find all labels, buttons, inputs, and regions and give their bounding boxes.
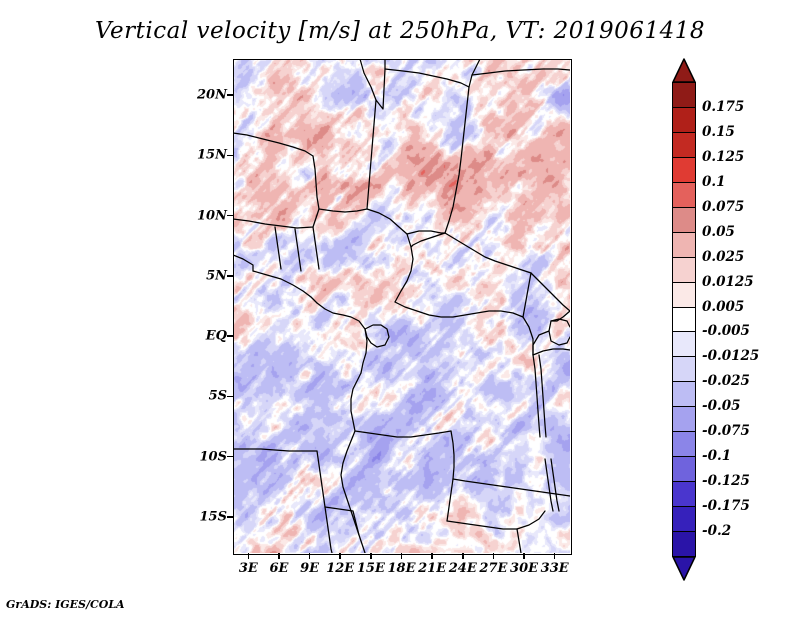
x-axis-label: 3E xyxy=(239,561,258,576)
colorbar-label: -0.2 xyxy=(702,523,731,539)
y-axis-tick xyxy=(227,155,233,157)
y-axis-tick xyxy=(227,396,233,398)
colorbar-segment xyxy=(672,431,696,457)
x-axis-tick xyxy=(401,553,403,559)
x-axis-tick xyxy=(554,553,556,559)
x-axis-label: 30E xyxy=(510,561,538,576)
colorbar-segment xyxy=(672,157,696,183)
y-axis-tick xyxy=(227,516,233,518)
x-axis-label: 6E xyxy=(269,561,288,576)
x-axis-tick xyxy=(248,553,250,559)
colorbar-label: 0.175 xyxy=(702,99,744,115)
x-axis-label: 21E xyxy=(418,561,446,576)
colorbar-segment xyxy=(672,481,696,507)
colorbar-segment xyxy=(672,182,696,208)
colorbar-label: -0.1 xyxy=(702,448,731,464)
colorbar-label: 0.125 xyxy=(702,149,744,165)
y-axis-tick xyxy=(227,456,233,458)
colorbar-segment xyxy=(672,132,696,158)
colorbar-label: 0.05 xyxy=(702,224,735,240)
colorbar-segment xyxy=(672,531,696,557)
colorbar-label: 0.1 xyxy=(702,174,726,190)
colorbar-label: -0.125 xyxy=(702,473,750,489)
colorbar-label: 0.025 xyxy=(702,249,744,265)
colorbar-segment xyxy=(672,257,696,283)
colorbar-segment xyxy=(672,331,696,357)
colorbar-segment xyxy=(672,82,696,108)
x-axis-label: 33E xyxy=(541,561,569,576)
colorbar-over-arrow xyxy=(672,58,696,82)
colorbar-label: -0.075 xyxy=(702,423,750,439)
grads-credit: GrADS: IGES/COLA xyxy=(6,598,125,611)
colorbar-segment xyxy=(672,506,696,532)
x-axis-tick xyxy=(278,553,280,559)
x-axis-label: 27E xyxy=(479,561,507,576)
colorbar-segment xyxy=(672,232,696,258)
colorbar-label: -0.025 xyxy=(702,373,750,389)
x-axis-tick xyxy=(309,553,311,559)
x-axis-tick xyxy=(431,553,433,559)
y-axis-tick xyxy=(227,215,233,217)
colorbar-segment xyxy=(672,107,696,133)
colorbar xyxy=(672,82,696,556)
x-axis-label: 18E xyxy=(388,561,416,576)
colorbar-label: 0.15 xyxy=(702,124,735,140)
y-axis-tick xyxy=(227,94,233,96)
colorbar-segment xyxy=(672,207,696,233)
x-axis-tick xyxy=(370,553,372,559)
colorbar-label: 0.0125 xyxy=(702,274,754,290)
colorbar-label: 0.075 xyxy=(702,199,744,215)
colorbar-label: -0.0125 xyxy=(702,348,759,364)
y-axis-tick xyxy=(227,335,233,337)
colorbar-segment xyxy=(672,307,696,333)
x-axis-label: 12E xyxy=(326,561,354,576)
x-axis-label: 15E xyxy=(357,561,385,576)
x-axis-tick xyxy=(339,553,341,559)
colorbar-label: 0.005 xyxy=(702,299,744,315)
colorbar-segment xyxy=(672,456,696,482)
colorbar-segment xyxy=(672,381,696,407)
x-axis-tick xyxy=(462,553,464,559)
y-axis-tick xyxy=(227,275,233,277)
x-axis-tick xyxy=(523,553,525,559)
x-axis-label: 24E xyxy=(449,561,477,576)
colorbar-label: -0.005 xyxy=(702,323,750,339)
colorbar-label: -0.05 xyxy=(702,398,740,414)
colorbar-label: -0.175 xyxy=(702,498,750,514)
x-axis-tick xyxy=(493,553,495,559)
colorbar-segment xyxy=(672,282,696,308)
colorbar-under-arrow xyxy=(672,556,696,580)
colorbar-segment xyxy=(672,406,696,432)
colorbar-segment xyxy=(672,356,696,382)
x-axis-label: 9E xyxy=(300,561,319,576)
